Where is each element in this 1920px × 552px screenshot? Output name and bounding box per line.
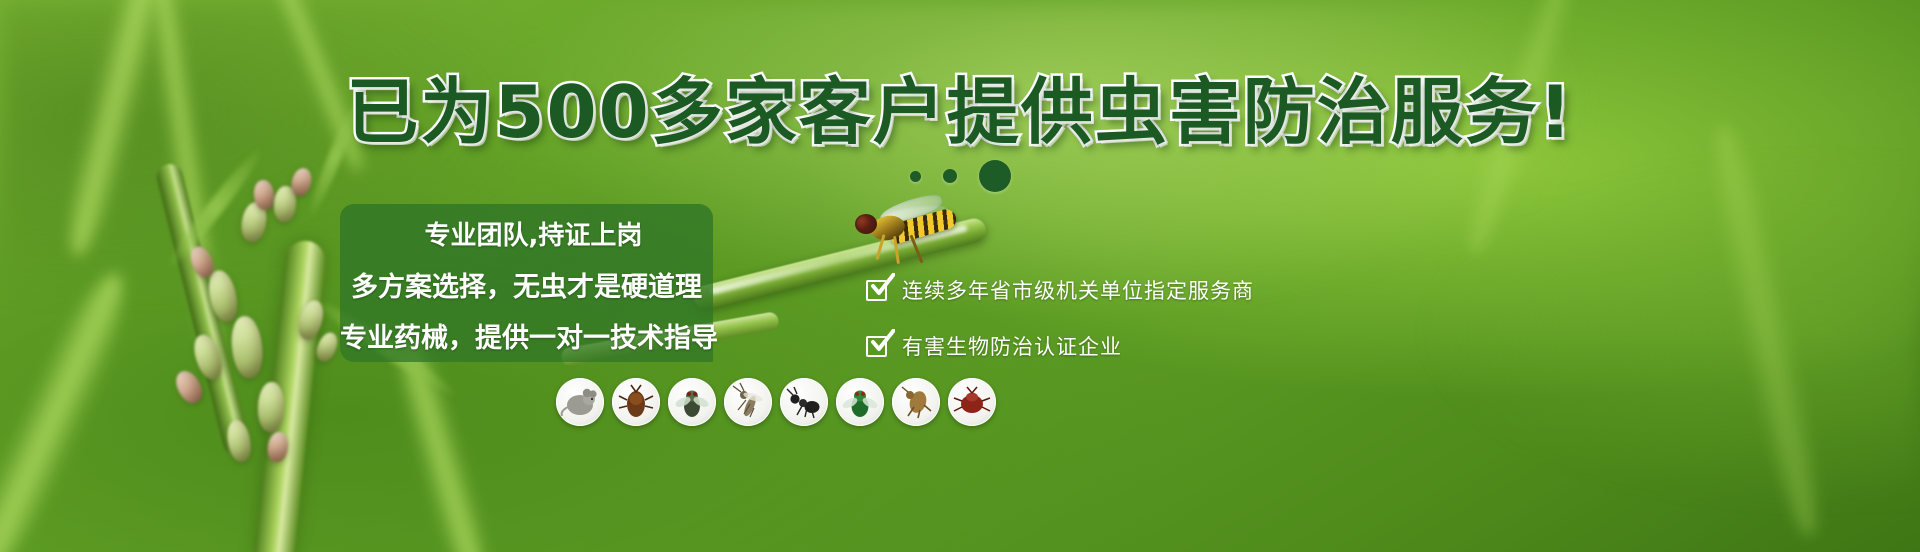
banner-headline: 已为500多家客户提供虫害防治服务! <box>0 74 1920 150</box>
flea-icon <box>892 378 940 426</box>
feature-line-3: 专业药械，提供一对一技术指导 <box>340 316 713 355</box>
decor-dot-small <box>910 171 921 182</box>
cockroach-icon <box>612 378 660 426</box>
feature-panel: 专业团队,持证上岗 多方案选择，无虫才是硬道理 专业药械，提供一对一技术指导 <box>340 204 713 362</box>
decor-dot-large <box>979 160 1011 192</box>
credential-checklist: 连续多年省市级机关单位指定服务商 有害生物防治认证企业 <box>866 275 1254 387</box>
blowfly-icon <box>836 378 884 426</box>
mouse-icon <box>556 378 604 426</box>
ant-icon <box>780 378 828 426</box>
feature-line-1: 专业团队,持证上岗 <box>340 215 713 265</box>
checklist-label: 连续多年省市级机关单位指定服务商 <box>902 275 1254 305</box>
checklist-label: 有害生物防治认证企业 <box>902 331 1122 361</box>
promo-banner: 已为500多家客户提供虫害防治服务! 专业团队,持证上岗 多方案选择，无虫才是硬… <box>0 0 1920 552</box>
feature-line-2: 多方案选择，无虫才是硬道理 <box>340 265 713 316</box>
decor-dots <box>0 160 1920 192</box>
decor-dot-medium <box>943 169 957 183</box>
fly-icon <box>668 378 716 426</box>
checklist-item: 有害生物防治认证企业 <box>866 331 1254 361</box>
checklist-item: 连续多年省市级机关单位指定服务商 <box>866 275 1254 305</box>
checkbox-checked-icon <box>866 334 890 358</box>
bedbug-icon <box>948 378 996 426</box>
pest-icon-row <box>556 378 996 426</box>
hoverfly-photo <box>845 196 965 256</box>
mosquito-icon <box>724 378 772 426</box>
checkbox-checked-icon <box>866 278 890 302</box>
